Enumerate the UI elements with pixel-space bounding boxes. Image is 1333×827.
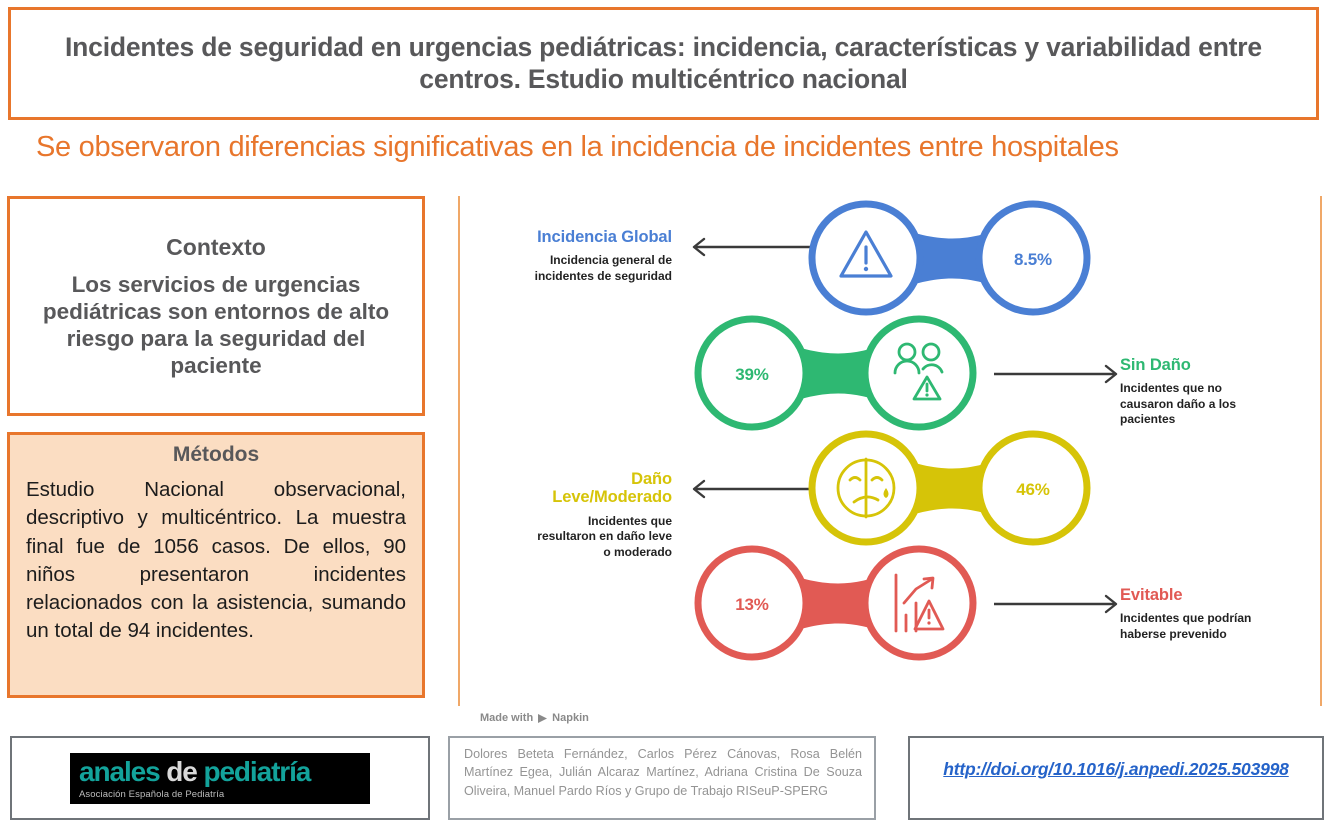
row-percent-incidencia-global: 8.5% xyxy=(1014,250,1052,269)
row-percent-sin-dano: 39% xyxy=(735,365,769,384)
journal-logo-box: anales de pediatría Asociación Española … xyxy=(10,736,430,820)
doi-box: http://doi.org/10.1016/j.anpedi.2025.503… xyxy=(908,736,1324,820)
authors-box: Dolores Beteta Fernández, Carlos Pérez C… xyxy=(448,736,876,820)
napkin-made-with-label: Made with xyxy=(480,712,533,724)
row-percent-evitable: 13% xyxy=(735,595,769,614)
row-label-block: Evitable Incidentes que podrían haberse … xyxy=(1120,586,1320,642)
row-percent-dano-leve-moderado: 46% xyxy=(1016,480,1050,499)
infographic-row-evitable: 13% Evitable Incidentes que podr xyxy=(462,541,1320,669)
row-label-dano-leve-moderado: Daño Leve/Moderado xyxy=(462,470,672,507)
subtitle-text: Se observaron diferencias significativas… xyxy=(36,135,1119,164)
row-desc-sin-dano: Incidentes que no causaron daño a los pa… xyxy=(1120,381,1320,427)
infographic: Incidencia Global Incidencia general de … xyxy=(462,196,1320,706)
infographic-row-dano-leve-moderado: Daño Leve/Moderado Incidentes que result… xyxy=(462,426,1320,554)
napkin-brand-label: Napkin xyxy=(552,712,589,724)
contexto-panel: Contexto Los servicios de urgencias pedi… xyxy=(7,196,425,416)
metodos-body: Estudio Nacional observacional, descript… xyxy=(26,476,406,646)
row-desc-evitable: Incidentes que podrían haberse prevenido xyxy=(1120,611,1320,642)
napkin-play-icon xyxy=(537,713,548,724)
journal-logo-wordmark: anales de pediatría xyxy=(79,758,361,786)
contexto-body: Los servicios de urgencias pediátricas s… xyxy=(22,271,410,379)
poster-canvas: Incidentes de seguridad en urgencias ped… xyxy=(0,0,1333,827)
contexto-title: Contexto xyxy=(166,234,266,261)
authors-list: Dolores Beteta Fernández, Carlos Pérez C… xyxy=(464,745,862,800)
divider-right xyxy=(1320,196,1322,706)
dumbbell-evitable: 13% xyxy=(684,541,984,666)
doi-link[interactable]: http://doi.org/10.1016/j.anpedi.2025.503… xyxy=(943,759,1288,780)
metodos-title: Métodos xyxy=(26,443,406,467)
divider-left xyxy=(458,196,460,706)
infographic-row-sin-dano: 39% Sin Daño Incidentes que no causaron … xyxy=(462,311,1320,439)
row-label-block: Incidencia Global Incidencia general de … xyxy=(462,228,672,284)
metodos-panel: Métodos Estudio Nacional observacional, … xyxy=(7,432,425,698)
dumbbell-sin-dano: 39% xyxy=(684,311,984,436)
title-box: Incidentes de seguridad en urgencias ped… xyxy=(8,7,1319,120)
dumbbell-dano-leve-moderado: 46% xyxy=(798,426,1098,551)
subtitle-occlusion-mask xyxy=(455,168,1333,196)
arrow-right-icon xyxy=(992,363,1132,385)
row-label-block: Sin Daño Incidentes que no causaron daño… xyxy=(1120,356,1320,428)
infographic-row-incidencia-global: Incidencia Global Incidencia general de … xyxy=(462,196,1320,324)
logo-word-de: de xyxy=(166,756,196,787)
journal-logo-plate: anales de pediatría Asociación Española … xyxy=(70,753,370,804)
logo-word-anales: anales xyxy=(79,756,160,787)
logo-tagline: Asociación Española de Pediatría xyxy=(79,789,361,800)
arrow-left-icon xyxy=(680,478,812,500)
arrow-right-icon xyxy=(992,593,1132,615)
arrow-left-icon xyxy=(680,236,812,258)
napkin-watermark: Made with Napkin xyxy=(480,712,589,724)
dumbbell-incidencia-global: 8.5% xyxy=(798,196,1098,321)
row-label-sin-dano: Sin Daño xyxy=(1120,356,1320,374)
row-label-incidencia-global: Incidencia Global xyxy=(462,228,672,246)
row-desc-incidencia-global: Incidencia general de incidentes de segu… xyxy=(462,253,672,284)
row-label-evitable: Evitable xyxy=(1120,586,1320,604)
page-title: Incidentes de seguridad en urgencias ped… xyxy=(11,32,1316,95)
logo-word-pediatria: pediatría xyxy=(203,756,310,787)
